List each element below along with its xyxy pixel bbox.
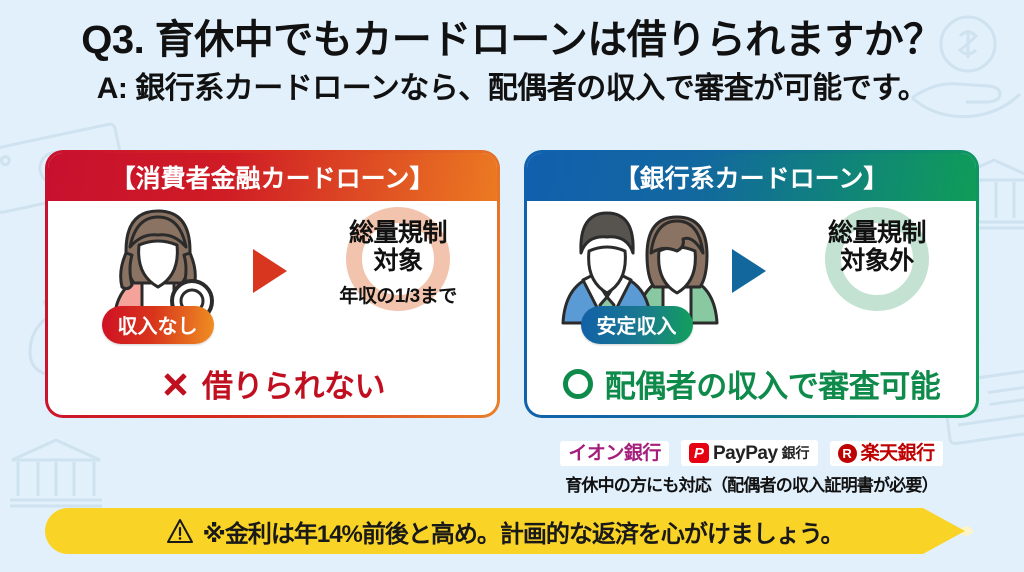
bank-building-icon	[6, 432, 106, 512]
result-title-left: 総量規制 対象	[303, 205, 493, 275]
cross-mark-icon	[160, 369, 190, 399]
bank-name-aeon: イオン銀行	[568, 444, 661, 463]
badge-no-income: 収入なし	[102, 306, 214, 344]
bank-logo-row: イオン銀行 P PayPay 銀行 R 楽天銀行	[524, 440, 979, 466]
question-title: Q3. 育休中でもカードローンは借りられますか？	[0, 18, 1024, 62]
bank-logo-rakuten: R 楽天銀行	[830, 441, 943, 466]
bank-suffix-paypay: 銀行	[782, 446, 810, 460]
right-triangle-arrow-icon	[732, 249, 766, 293]
circle-mark-icon	[563, 369, 593, 399]
verdict-left: 借りられない	[48, 361, 497, 406]
card-title-consumer-finance: 【消費者金融カードローン】	[48, 153, 497, 201]
rakuten-r-icon: R	[838, 444, 857, 463]
persona-block-left: 収入なし	[70, 207, 245, 332]
warning-banner: ※金利は年14%前後と高め。計画的な返済を心がけましょう。	[45, 508, 965, 554]
answer-subtitle: A: 銀行系カードローンなら、配偶者の収入で審査が可能です。	[0, 72, 1024, 105]
badge-stable-income: 安定収入	[581, 306, 693, 344]
verdict-text-right: 配偶者の収入で審査可能	[605, 361, 941, 406]
card-body-bank-cardloan: 安定収入 総量規制 対象外 配偶者の収入で審査可能	[527, 201, 976, 418]
bank-logo-paypay: P PayPay 銀行	[681, 440, 818, 466]
warning-text: ※金利は年14%前後と高め。計画的な返済を心がけましょう。	[203, 514, 844, 549]
verdict-right: 配偶者の収入で審査可能	[527, 361, 976, 406]
result-title-line2-right: 対象外	[840, 247, 914, 275]
bank-logo-aeon: イオン銀行	[560, 441, 669, 466]
right-triangle-arrow-icon	[253, 249, 287, 293]
card-body-consumer-finance: 収入なし 総量規制 対象 年収の1/3まで 借りられない	[48, 201, 497, 418]
result-subtext-left: 年収の1/3まで	[303, 281, 493, 308]
bank-name-rakuten: 楽天銀行	[861, 444, 935, 463]
paypay-p-icon: P	[689, 443, 709, 463]
bank-name-paypay: PayPay	[713, 444, 778, 463]
card-bank-cardloan: 【銀行系カードローン】	[524, 150, 979, 418]
result-title-line1-right: 総量規制	[828, 219, 926, 247]
result-block-left: 総量規制 対象 年収の1/3まで	[303, 205, 493, 335]
supported-banks: イオン銀行 P PayPay 銀行 R 楽天銀行 育休中の方にも対応（配偶者の収…	[524, 440, 979, 496]
result-title-line1-left: 総量規制	[349, 219, 447, 247]
result-title-right: 総量規制 対象外	[782, 205, 972, 275]
bank-support-note: 育休中の方にも対応（配偶者の収入証明書が必要）	[524, 471, 979, 496]
header: Q3. 育休中でもカードローンは借りられますか？ A: 銀行系カードローンなら、…	[0, 18, 1024, 105]
persona-block-right: 安定収入	[549, 207, 724, 332]
card-title-bank-cardloan: 【銀行系カードローン】	[527, 153, 976, 201]
result-title-line2-left: 対象	[373, 247, 422, 275]
warning-triangle-icon	[167, 518, 193, 544]
card-consumer-finance: 【消費者金融カードローン】	[45, 150, 500, 418]
result-block-right: 総量規制 対象外	[782, 205, 972, 335]
verdict-text-left: 借りられない	[202, 361, 385, 406]
